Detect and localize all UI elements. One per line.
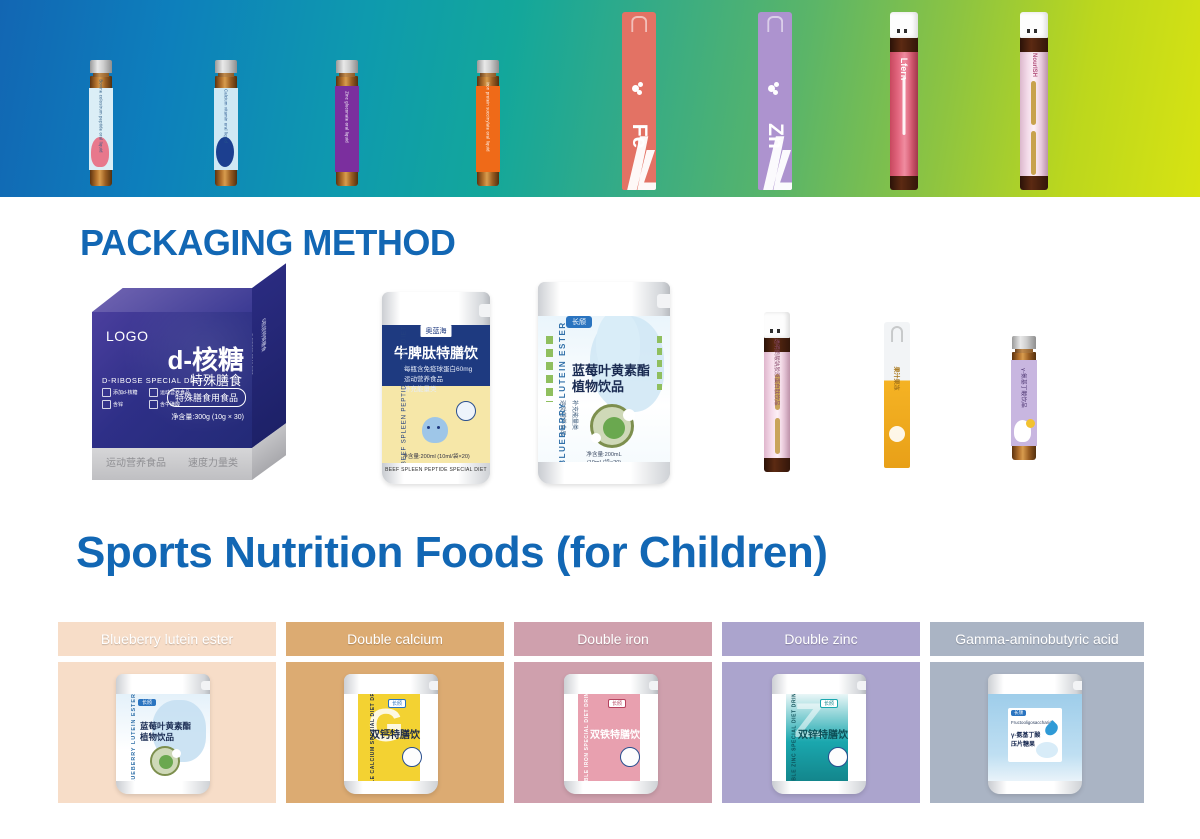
sports-nutrition-title: Sports Nutrition Foods (for Children) xyxy=(76,528,827,578)
canister-cn-side-2: 补充能量类 xyxy=(571,400,580,430)
canister-foot xyxy=(772,781,866,794)
vial-label-text: 透明质酸钠胶原蛋白肽饮品 xyxy=(773,338,781,405)
box-en-title: D-RIBOSE SPECIAL DIET xyxy=(102,376,204,385)
tube-brand-label: NourISH xyxy=(1031,53,1037,77)
canister-en-vertical: BEEF SPLEEN PEPTIDE SPECIAL DIET xyxy=(400,326,407,466)
canister-wrap: 长颀 蓝莓叶黄素酯 植物饮品 BLUEBERRY LUTEIN ESTER xyxy=(116,694,210,780)
banner-tube-nourish: NourISH xyxy=(1020,12,1048,190)
sachet-seal-icon xyxy=(889,426,905,442)
tube-liquid xyxy=(1020,36,1048,52)
box-base-right-text: 速度力量类 xyxy=(188,454,238,469)
box-feature-item: 含牛磺酸 xyxy=(149,400,190,409)
banner-tube-lfern: Lfern xyxy=(890,12,918,190)
canister-wrap: 长颀 双铁特膳饮 DOUBLE IRON SPECIAL DIET DRINK xyxy=(564,694,658,780)
vial-label-text: Calcium vitamin oral liquid xyxy=(224,89,229,143)
box-net-weight: 净含量:300g (10g × 30) xyxy=(171,412,244,422)
canister-cn-title-2: 压片糖果 xyxy=(1011,739,1035,748)
canister-cn-line-2: 运动营养食品 xyxy=(404,373,443,383)
lutein-emblem-icon xyxy=(590,404,634,448)
sachet-element-label: Zn xyxy=(763,123,787,149)
box-feature-label: 运动营养食品 xyxy=(160,389,190,396)
mascot-icon xyxy=(422,417,448,443)
tube-bottom xyxy=(890,176,918,190)
box-side-text: 6瓶装特殊膳食 xyxy=(260,316,267,354)
vial-label: Bovine colostrum peptide oral liquid xyxy=(89,88,113,170)
tube-cap xyxy=(890,12,918,38)
canister-brand: 长颀 xyxy=(566,316,592,328)
tube-bottom xyxy=(1020,176,1048,190)
cell-image-panel: 长颀 双铁特膳饮 DOUBLE IRON SPECIAL DIET DRINK xyxy=(514,662,712,803)
canister-tab xyxy=(479,304,490,317)
canister-cn-title-1: 双钙特膳饮 xyxy=(370,726,420,741)
canister-lid xyxy=(116,674,210,694)
cell-label-band: Double iron xyxy=(514,622,712,656)
lutein-emblem-icon xyxy=(150,746,180,776)
product-d-ribose-box: 6瓶装特殊膳食 D-RIBOSE PEAK DIET LOGO d-核糖 特殊膳… xyxy=(92,312,292,482)
canister-wrap: 长颀 蓝莓叶黄素酯 植物饮品 运动营养食品 补充能量类 净含量:200mL (1… xyxy=(538,308,670,470)
product-vial-purple-gaba: γ-氨基丁酸饮品 xyxy=(1012,336,1036,460)
canister-foot xyxy=(564,781,658,794)
canister-lid xyxy=(772,674,866,694)
banner-vial-1: Bovine colostrum peptide oral liquid xyxy=(90,60,112,186)
product-canister: Z 长颀 双锌特膳饮 DOUBLE ZINC SPECIAL DIET DRIN… xyxy=(772,674,866,794)
cell-label-text: Blueberry lutein ester xyxy=(101,631,233,647)
product-sachet-yellow-jelly: 果汁果冻 xyxy=(884,322,910,468)
cell-label-band: Double calcium xyxy=(286,622,504,656)
canister-wrap: 长颀 Fructooligosaccharide γ-氨基丁酸 压片糖果 xyxy=(988,694,1082,780)
canister-cn-line-3: 补充能量类 xyxy=(404,383,437,393)
canister-foot: BEEF SPLEEN PEPTIDE SPECIAL DIET xyxy=(382,463,490,484)
quality-seal-icon xyxy=(456,401,476,421)
canister-foot xyxy=(344,781,438,794)
quality-seal-icon xyxy=(402,747,422,767)
box-feature-item: 添加d-核糖 xyxy=(102,388,143,397)
canister-cn-title-1: 双铁特膳饮 xyxy=(590,726,640,741)
product-beef-spleen-peptide: 奥蓝海 牛脾肽特膳饮 每瓶含免疫球蛋白60mg 运动营养食品 补充能量类 净含量… xyxy=(382,292,490,484)
vial-cap xyxy=(215,60,237,73)
cell-image-panel: Z 长颀 双锌特膳饮 DOUBLE ZINC SPECIAL DIET DRIN… xyxy=(722,662,920,803)
cell-label-band: Blueberry lutein ester xyxy=(58,622,276,656)
canister-tab xyxy=(429,681,438,689)
sachet-notch xyxy=(631,16,647,32)
canister-brand: 长颀 xyxy=(1011,710,1026,716)
vial-label-text: Iron protein succinylate oral liquid xyxy=(486,82,491,151)
canister-lid xyxy=(564,674,658,694)
box-front-face: LOGO d-核糖 特殊膳食 D-RIBOSE SPECIAL DIET 特殊膳… xyxy=(92,312,252,448)
vial-cap xyxy=(336,60,358,73)
canister-cn-title-1: 双锌特膳饮 xyxy=(798,726,848,741)
vial-cap xyxy=(477,60,499,73)
vial-label: Calcium vitamin oral liquid xyxy=(214,88,238,170)
vial-cap xyxy=(90,60,112,73)
hero-banner: Bovine colostrum peptide oral liquid Cal… xyxy=(0,0,1200,197)
tube-liquid xyxy=(890,36,918,52)
canister-cn-title-1: γ-氨基丁酸 xyxy=(1011,730,1040,739)
banner-vial-2: Calcium vitamin oral liquid xyxy=(215,60,237,186)
vial-label-text: Bovine colostrum peptide oral liquid xyxy=(99,79,104,152)
banner-sachet-zn: Zn xyxy=(758,12,792,190)
tube-cap xyxy=(1020,12,1048,38)
canister-lid xyxy=(988,674,1082,694)
vial-label: Zinc gluconate oral liquid xyxy=(335,86,359,172)
taurine-icon xyxy=(149,400,158,409)
canister-en-vertical: DOUBLE CALCIUM SPECIAL DIET DRINK xyxy=(370,681,376,794)
box-icon-group: 添加d-核糖 运动营养食品 含锌 含牛磺酸 xyxy=(102,388,190,409)
tube-bottom xyxy=(764,458,790,472)
canister-foot xyxy=(116,781,210,794)
box-logo: LOGO xyxy=(106,328,148,344)
canister-brand: 长颀 xyxy=(388,699,406,708)
box-side-face: 6瓶装特殊膳食 D-RIBOSE PEAK DIET xyxy=(252,263,286,448)
box-feature-label: 含锌 xyxy=(113,401,123,408)
canister-cn-title-2: 植物饮品 xyxy=(572,376,624,395)
cell-label-text: Double iron xyxy=(577,631,649,647)
cell-label-band: Double zinc xyxy=(722,622,920,656)
product-canister: 长颀 Fructooligosaccharide γ-氨基丁酸 压片糖果 xyxy=(988,674,1082,794)
box-base-left-text: 运动营养食品 xyxy=(106,454,166,469)
cell-label-text: Double zinc xyxy=(784,631,857,647)
canister-tab xyxy=(201,681,210,689)
vial-label: Iron protein succinylate oral liquid xyxy=(476,86,500,172)
product-canister: G 长颀 双钙特膳饮 DOUBLE CALCIUM SPECIAL DIET D… xyxy=(344,674,438,794)
canister-tab xyxy=(649,681,658,689)
canister-brand: 长颀 xyxy=(820,699,838,708)
sachet-notch xyxy=(891,326,903,342)
vial-label-text: Zinc gluconate oral liquid xyxy=(345,91,350,143)
box-feature-item: 含锌 xyxy=(102,400,143,409)
cell-image-panel: 长颀 蓝莓叶黄素酯 植物饮品 BLUEBERRY LUTEIN ESTER xyxy=(58,662,276,803)
box-feature-item: 运动营养食品 xyxy=(149,388,190,397)
banner-vial-3: Zinc gluconate oral liquid xyxy=(336,60,358,186)
product-blueberry-lutein-canister: 长颀 蓝莓叶黄素酯 植物饮品 运动营养食品 补充能量类 净含量:200mL (1… xyxy=(538,282,670,484)
canister-lid xyxy=(538,282,670,316)
cell-image-panel: G 长颀 双钙特膳饮 DOUBLE CALCIUM SPECIAL DIET D… xyxy=(286,662,504,803)
cell-image-panel: 长颀 Fructooligosaccharide γ-氨基丁酸 压片糖果 xyxy=(930,662,1144,803)
box-feature-label: 添加d-核糖 xyxy=(113,389,137,396)
product-canister: 长颀 蓝莓叶黄素酯 植物饮品 BLUEBERRY LUTEIN ESTER xyxy=(116,674,210,794)
canister-en-vertical: DOUBLE ZINC SPECIAL DIET DRINK xyxy=(792,688,798,793)
canister-foot xyxy=(538,462,670,484)
canister-wrap: 奥蓝海 牛脾肽特膳饮 每瓶含免疫球蛋白60mg 运动营养食品 补充能量类 净含量… xyxy=(382,319,490,465)
banner-vial-4: Iron protein succinylate oral liquid xyxy=(477,60,499,186)
sachet-label-text: 果汁果冻 xyxy=(893,366,902,390)
canister-cn-title-2: 植物饮品 xyxy=(140,731,174,743)
canister-net-weight: 净含量:200ml (10ml/袋×20) xyxy=(382,452,490,460)
cell-label-text: Gamma-aminobutyric acid xyxy=(955,631,1118,647)
canister-tab xyxy=(857,681,866,689)
canister-en-vertical: DOUBLE IRON SPECIAL DIET DRINK xyxy=(584,688,590,794)
canister-brand: 奥蓝海 xyxy=(420,324,453,338)
vial-cap xyxy=(1012,336,1036,349)
canister-wrap: G 长颀 双钙特膳饮 DOUBLE CALCIUM SPECIAL DIET D… xyxy=(344,694,438,780)
sachet-element-label: Fe xyxy=(627,124,651,149)
sachet-notch xyxy=(767,16,783,32)
canister-foot xyxy=(988,781,1082,794)
canister-brand: 长颀 xyxy=(608,699,626,708)
vial-label: γ-氨基丁酸饮品 xyxy=(1011,360,1037,446)
sport-icon xyxy=(149,388,158,397)
capsule-icon xyxy=(102,388,111,397)
box-feature-label: 含牛磺酸 xyxy=(160,401,180,408)
banner-sachet-fe: Fe xyxy=(622,12,656,190)
tube-cap xyxy=(764,312,790,338)
cell-label-band: Gamma-aminobutyric acid xyxy=(930,622,1144,656)
canister-en-vertical: BLUEBERRY LUTEIN ESTER xyxy=(131,693,137,789)
quality-seal-icon xyxy=(620,747,640,767)
canister-cn-line-1: 每瓶含免疫球蛋白60mg xyxy=(404,363,472,373)
cell-label-text: Double calcium xyxy=(347,631,443,647)
canister-wrap: Z 长颀 双锌特膳饮 DOUBLE ZINC SPECIAL DIET DRIN… xyxy=(772,694,866,780)
canister-en-bottom: BEEF SPLEEN PEPTIDE SPECIAL DIET xyxy=(382,467,490,473)
zinc-icon xyxy=(102,400,111,409)
canister-en-vertical: BLUEBERRY LUTEIN ESTER xyxy=(558,321,567,466)
quality-seal-icon xyxy=(828,747,848,767)
tube-brand-label: Lfern xyxy=(899,58,909,81)
product-vial-pink-collagen: 透明质酸钠胶原蛋白肽饮品 xyxy=(764,312,790,472)
canister-lid xyxy=(382,292,490,325)
product-canister: 长颀 双铁特膳饮 DOUBLE IRON SPECIAL DIET DRINK xyxy=(564,674,658,794)
canister-lid xyxy=(344,674,438,694)
canister-brand: 长颀 xyxy=(138,699,156,706)
canister-tab xyxy=(1073,681,1082,689)
vial-label-text: γ-氨基丁酸饮品 xyxy=(1020,368,1028,408)
packaging-method-title: PACKAGING METHOD xyxy=(80,222,455,264)
canister-tab xyxy=(657,294,670,308)
